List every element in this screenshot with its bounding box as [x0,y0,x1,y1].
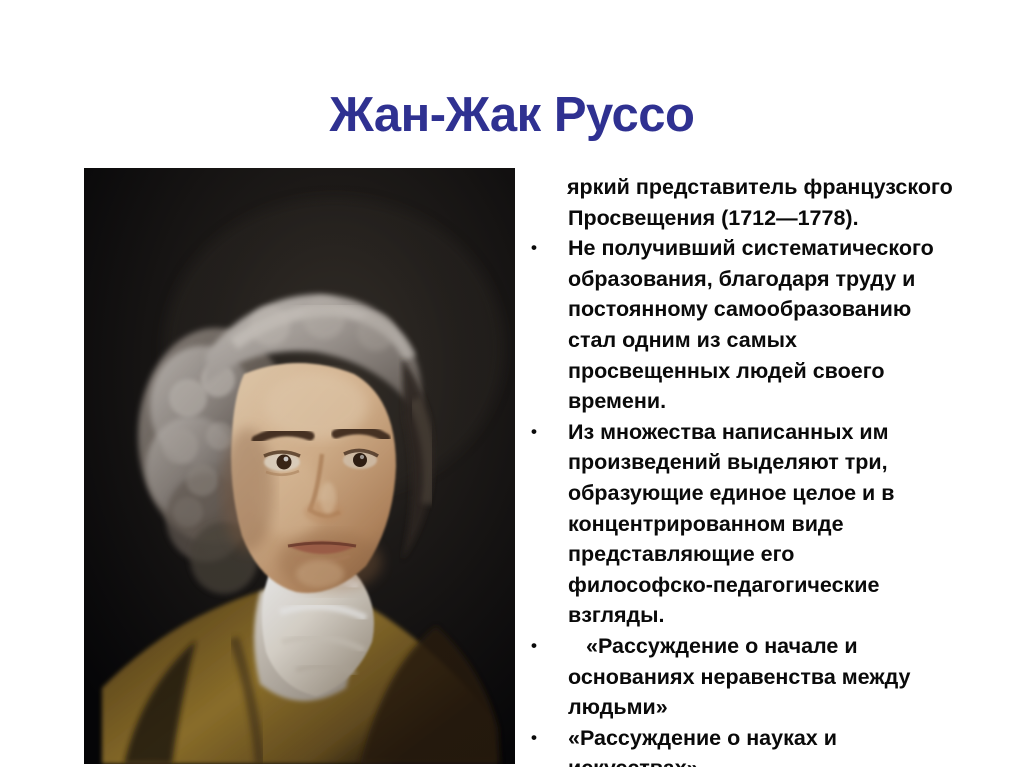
list-item-label: стал одним из самых [568,328,797,352]
list-item[interactable]: •Из множества написанных им [520,417,990,448]
list-item-continuation: времени. [520,386,990,417]
list-item-label: времени. [568,389,666,413]
list-item-continuation: людьми» [520,692,990,723]
list-item-continuation: произведений выделяют три, [520,447,990,478]
list-item-label: представляющие его [568,542,794,566]
bullet-icon: • [531,723,579,754]
list-item-continuation: представляющие его [520,539,990,570]
list-item-label: философско-педагогические [568,573,879,597]
list-item-continuation: стал одним из самых [520,325,990,356]
list-item-continuation: взгляды. [520,600,990,631]
bullet-icon: • [531,417,579,448]
list-item-label: произведений выделяют три, [568,450,888,474]
bullet-list: яркий представитель французскогоПросвеще… [520,172,990,767]
list-item-continuation: основаниях неравенства между [520,662,990,693]
list-item-label: Не получивший систематического [568,236,934,260]
list-item-label: образующие единое целое и в [568,481,894,505]
list-item-continuation: яркий представитель французского [520,172,990,203]
list-item[interactable]: •«Рассуждение о науках и [520,723,990,754]
list-item[interactable]: • «Рассуждение о начале и [520,631,990,662]
list-item-label: просвещенных людей своего [568,359,885,383]
list-item-label: взгляды. [568,603,665,627]
bullet-icon: • [531,631,579,662]
list-item-label: Из множества написанных им [568,420,889,444]
list-item[interactable]: •Не получивший систематического [520,233,990,264]
list-item-continuation: искусствах» [520,753,990,767]
list-item-label: людьми» [568,695,668,719]
list-item-continuation: Просвещения (1712—1778). [520,203,990,234]
page-title: Жан-Жак Руссо [0,91,1024,140]
list-item-label: «Рассуждение о науках и [568,726,837,750]
list-item-label: «Рассуждение о начале и [568,634,858,658]
list-item-continuation: образования, благодаря труду и [520,264,990,295]
list-item-continuation: постоянному самообразованию [520,294,990,325]
list-item-continuation: образующие единое целое и в [520,478,990,509]
list-item-label: основаниях неравенства между [568,665,910,689]
list-item-continuation: философско-педагогические [520,570,990,601]
list-item-label: яркий представитель французского [538,175,953,199]
list-item-label: постоянному самообразованию [568,297,911,321]
list-item-label: Просвещения (1712—1778). [568,206,859,230]
list-item-label: образования, благодаря труду и [568,267,915,291]
presentation-slide: Жан-Жак Руссо [0,0,1024,767]
list-item-label: искусствах» [568,756,699,767]
portrait-image [84,168,515,764]
bullet-icon: • [531,233,579,264]
list-item-continuation: просвещенных людей своего [520,356,990,387]
list-item-continuation: концентрированном виде [520,509,990,540]
list-item-label: концентрированном виде [568,512,844,536]
